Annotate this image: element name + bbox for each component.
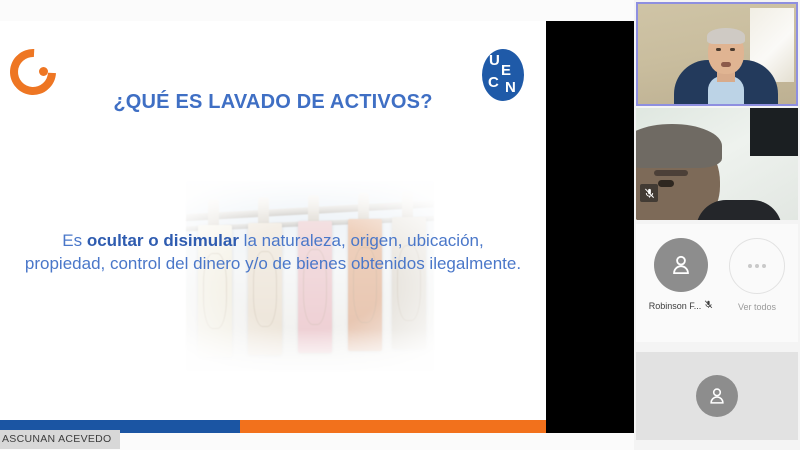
slide-title: ¿QUÉ ES LAVADO DE ACTIVOS? (0, 91, 546, 114)
view-all-label: Ver todos (738, 302, 776, 312)
participant-label-row: Robinson F... (644, 300, 718, 311)
participant-name: Robinson F... (649, 301, 702, 311)
more-dots-icon (729, 238, 785, 294)
tile1-mouth (721, 62, 731, 67)
video-conference-screen: U C E N ¿QUÉ ES LAVADO DE ACTIVOS? Es oc… (0, 0, 800, 450)
slide-body-text: Es ocultar o disimular la naturaleza, or… (24, 229, 522, 276)
presenter-name-tag: ASCUNAN ACEVEDO (0, 430, 120, 449)
slide-body-lead: Es (62, 231, 87, 250)
participant-avatar-row: Robinson F... Ver to (636, 224, 798, 342)
tile2-hair (636, 124, 722, 168)
tile1-hair (707, 28, 745, 44)
person-avatar-icon (654, 238, 708, 292)
participant-filmstrip[interactable]: Robinson F... Ver to (634, 0, 800, 450)
tile2-eyebrow (654, 170, 688, 176)
mic-muted-icon (704, 300, 713, 311)
tile2-wall-monitor (750, 108, 798, 156)
slide-background-photo (186, 181, 434, 371)
person-avatar-icon (696, 375, 738, 417)
ucen-letter-u: U (489, 53, 500, 68)
slide-footer-bar-orange (240, 420, 546, 433)
tile1-eye-left (716, 48, 721, 51)
participant-robinson[interactable]: Robinson F... (644, 238, 718, 311)
corporate-c-logo (10, 47, 56, 87)
slide-body-emphasis: ocultar o disimular (87, 231, 239, 250)
video-tile-active-speaker[interactable] (636, 2, 798, 106)
presentation-slide[interactable]: U C E N ¿QUÉ ES LAVADO DE ACTIVOS? Es oc… (0, 21, 546, 433)
ucen-letter-e: E (501, 63, 511, 78)
tile1-eye-right (730, 48, 735, 51)
tile2-eye (658, 180, 674, 187)
view-all-label-row: Ver todos (720, 302, 794, 312)
shared-screen-stage[interactable]: U C E N ¿QUÉ ES LAVADO DE ACTIVOS? Es oc… (0, 0, 634, 450)
view-all-participants-button[interactable]: Ver todos (720, 238, 794, 312)
video-tile-bottom-placeholder[interactable] (636, 352, 798, 440)
video-tile-second[interactable] (636, 108, 798, 220)
mic-muted-icon (640, 184, 658, 202)
ucen-letter-c: C (488, 75, 499, 90)
